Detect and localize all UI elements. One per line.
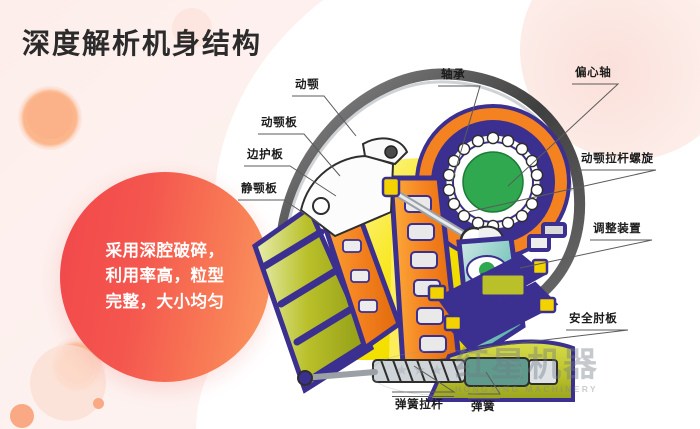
label-spring-text: 弹簧 xyxy=(468,399,500,417)
label-jaw-tie-rod-spiral-text: 动颚拉杆螺旋 xyxy=(578,154,656,169)
label-adjustment-device: 调整装置 xyxy=(590,224,652,239)
label-jaw-tie-rod-spiral: 动颚拉杆螺旋 xyxy=(578,154,656,169)
label-safety-toggle-plate: 安全肘板 xyxy=(566,314,628,329)
label-eccentric-shaft: 偏心轴 xyxy=(572,68,618,83)
label-safety-toggle-plate-text: 安全肘板 xyxy=(566,314,628,329)
label-moving-jaw-plate: 动颚板 xyxy=(258,118,304,133)
feature-callout-text: 采用深腔破碎， 利用率高，粒型 完整，大小均匀 xyxy=(75,239,255,314)
pivot-pin xyxy=(385,146,397,158)
label-spring-tie-rod: 弹簧拉杆 xyxy=(392,396,454,415)
feature-line-1: 采用深腔破碎， xyxy=(75,239,255,264)
label-side-guard-plate: 边护板 xyxy=(244,150,290,165)
label-moving-jaw-plate-text: 动颚板 xyxy=(258,118,304,133)
label-bearing-text: 轴承 xyxy=(438,70,480,85)
label-spring-tie-rod-text: 弹簧拉杆 xyxy=(392,397,454,415)
jaw-crusher-diagram xyxy=(243,60,603,410)
label-eccentric-shaft-text: 偏心轴 xyxy=(572,68,618,83)
label-fixed-jaw-plate: 静颚板 xyxy=(238,184,284,199)
label-fixed-jaw-plate-text: 静颚板 xyxy=(238,184,284,199)
deco-circle-pale-1 xyxy=(30,345,106,421)
eccentric-shaft-core xyxy=(463,152,523,212)
label-moving-jaw-text: 动颚 xyxy=(292,80,324,95)
page-title: 深度解析机身结构 xyxy=(22,22,262,62)
label-side-guard-plate-text: 边护板 xyxy=(244,150,290,165)
feature-callout-circle: 采用深腔破碎， 利用率高，粒型 完整，大小均匀 xyxy=(60,172,270,382)
infographic-canvas: 深度解析机身结构 采用深腔破碎， 利用率高，粒型 完整，大小均匀 xyxy=(0,0,700,429)
feature-line-2: 利用率高，粒型 xyxy=(75,264,255,289)
feature-line-3: 完整，大小均匀 xyxy=(75,290,255,315)
deco-circle-small-1 xyxy=(93,398,104,409)
label-moving-jaw: 动颚 xyxy=(292,80,324,95)
deco-circle-solid-3 xyxy=(10,404,34,428)
label-adjustment-device-text: 调整装置 xyxy=(590,224,652,239)
label-spring: 弹簧 xyxy=(468,398,500,417)
deco-circle-solid-1 xyxy=(27,93,73,139)
spring-housing xyxy=(465,358,529,386)
label-bearing: 轴承 xyxy=(438,70,480,85)
